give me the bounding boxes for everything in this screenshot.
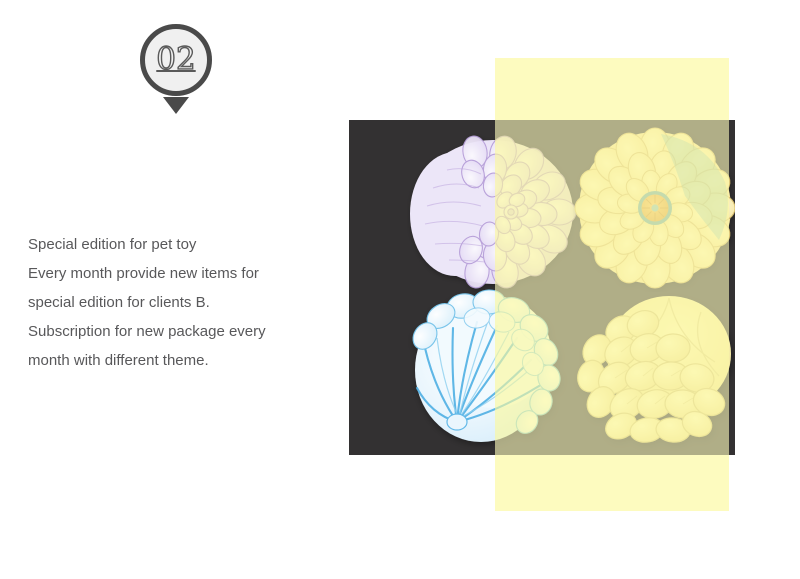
description-text: Special edition for pet toy Every month …	[28, 230, 328, 375]
badge-number: 02	[140, 24, 212, 96]
step-badge: 02	[140, 24, 212, 96]
triangle-down-icon	[163, 97, 189, 114]
yellow-overlay-rect	[495, 58, 729, 511]
